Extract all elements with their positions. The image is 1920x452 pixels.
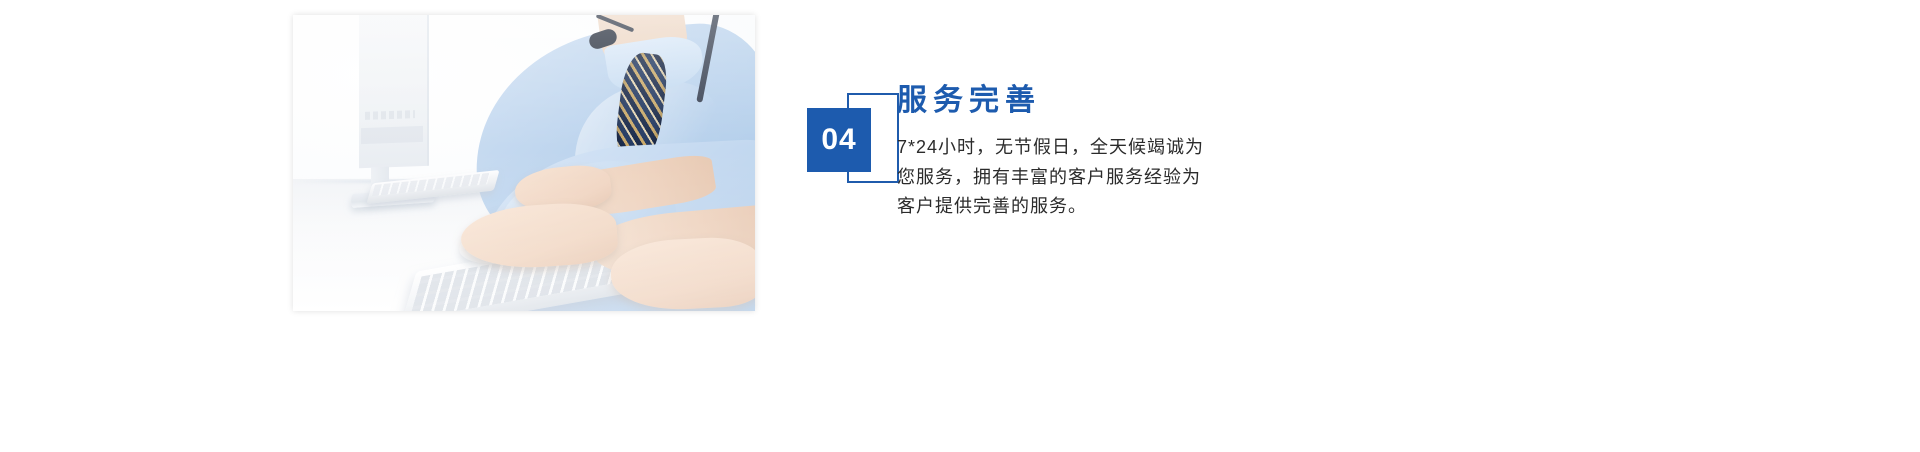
feature-photo-frame: [293, 15, 755, 311]
feature-text-block: 服务完善 7*24小时，无节假日，全天候竭诚为 您服务，拥有丰富的客户服务经验为…: [897, 84, 1317, 222]
feature-description-line-3: 客户提供完善的服务。: [897, 192, 1317, 222]
monitor-screen-strip: [361, 126, 423, 144]
feature-description-line-2: 您服务，拥有丰富的客户服务经验为: [897, 163, 1317, 193]
feature-number-label: 04: [821, 125, 856, 155]
badge-solid-square: 04: [807, 108, 871, 172]
service-feature-banner: 04 服务完善 7*24小时，无节假日，全天候竭诚为 您服务，拥有丰富的客户服务…: [0, 0, 1920, 452]
feature-number-badge: 04: [807, 84, 903, 192]
feature-description: 7*24小时，无节假日，全天候竭诚为 您服务，拥有丰富的客户服务经验为 客户提供…: [897, 133, 1317, 222]
monitor-screen: [359, 15, 429, 168]
feature-headline: 服务完善: [897, 84, 1317, 117]
feature-description-line-1: 7*24小时，无节假日，全天候竭诚为: [897, 133, 1317, 163]
call-center-photo: [293, 15, 755, 311]
